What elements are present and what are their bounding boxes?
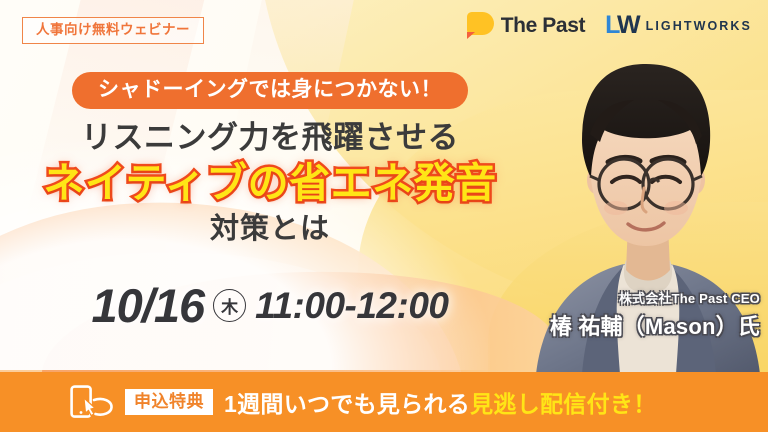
headline-line-3-highlight: ネイティブの省エネ発音 bbox=[0, 161, 540, 206]
lw-monogram-icon: LW bbox=[605, 13, 639, 38]
logo-the-past: The Past bbox=[467, 12, 585, 39]
headline-line-2: リスニング力を飛躍させる bbox=[0, 121, 540, 155]
headline-pill-wrap: シャドーイングでは身につかない！ bbox=[0, 72, 540, 109]
headline-block: シャドーイングでは身につかない！ リスニング力を飛躍させる ネイティブの省エネ発… bbox=[0, 72, 540, 246]
schedule-row: 10/16 木 11:00-12:00 bbox=[0, 278, 540, 333]
speaker-company-title: 株式会社The Past CEO bbox=[524, 288, 760, 307]
logo-lightworks: LW LIGHTWORKS bbox=[605, 13, 752, 38]
lw-letter-l: L bbox=[605, 11, 617, 39]
headline-pill: シャドーイングでは身につかない！ bbox=[72, 72, 468, 109]
speaker-name: 椿 祐輔（Mason）氏 bbox=[524, 309, 760, 341]
schedule-time: 11:00-12:00 bbox=[255, 285, 448, 327]
webinar-banner: 人事向け無料ウェビナー The Past LW LIGHTWORKS シャドーイ… bbox=[0, 0, 768, 432]
speech-bubble-icon bbox=[467, 12, 494, 39]
logo-lightworks-text: LIGHTWORKS bbox=[646, 19, 752, 33]
benefit-text-plain: 1週間いつでも見られる bbox=[224, 391, 470, 417]
logo-the-past-text: The Past bbox=[501, 14, 585, 38]
schedule-day-of-week: 木 bbox=[213, 289, 246, 322]
benefit-text-highlight: 見逃し配信付き！ bbox=[470, 391, 656, 417]
lw-letter-w: W bbox=[617, 11, 639, 39]
phone-tap-icon bbox=[70, 385, 114, 419]
tag-badge: 人事向け無料ウェビナー bbox=[22, 17, 204, 44]
bottom-benefit-bar: 申込特典 1週間いつでも見られる見逃し配信付き！ bbox=[0, 372, 768, 432]
speaker-caption: 株式会社The Past CEO 椿 祐輔（Mason）氏 bbox=[524, 288, 760, 341]
headline-line-4: 対策とは bbox=[0, 214, 540, 246]
benefit-badge: 申込特典 bbox=[125, 389, 213, 415]
benefit-text: 1週間いつでも見られる見逃し配信付き！ bbox=[224, 385, 657, 419]
schedule-date: 10/16 bbox=[92, 278, 205, 333]
logo-row: The Past LW LIGHTWORKS bbox=[467, 12, 752, 39]
